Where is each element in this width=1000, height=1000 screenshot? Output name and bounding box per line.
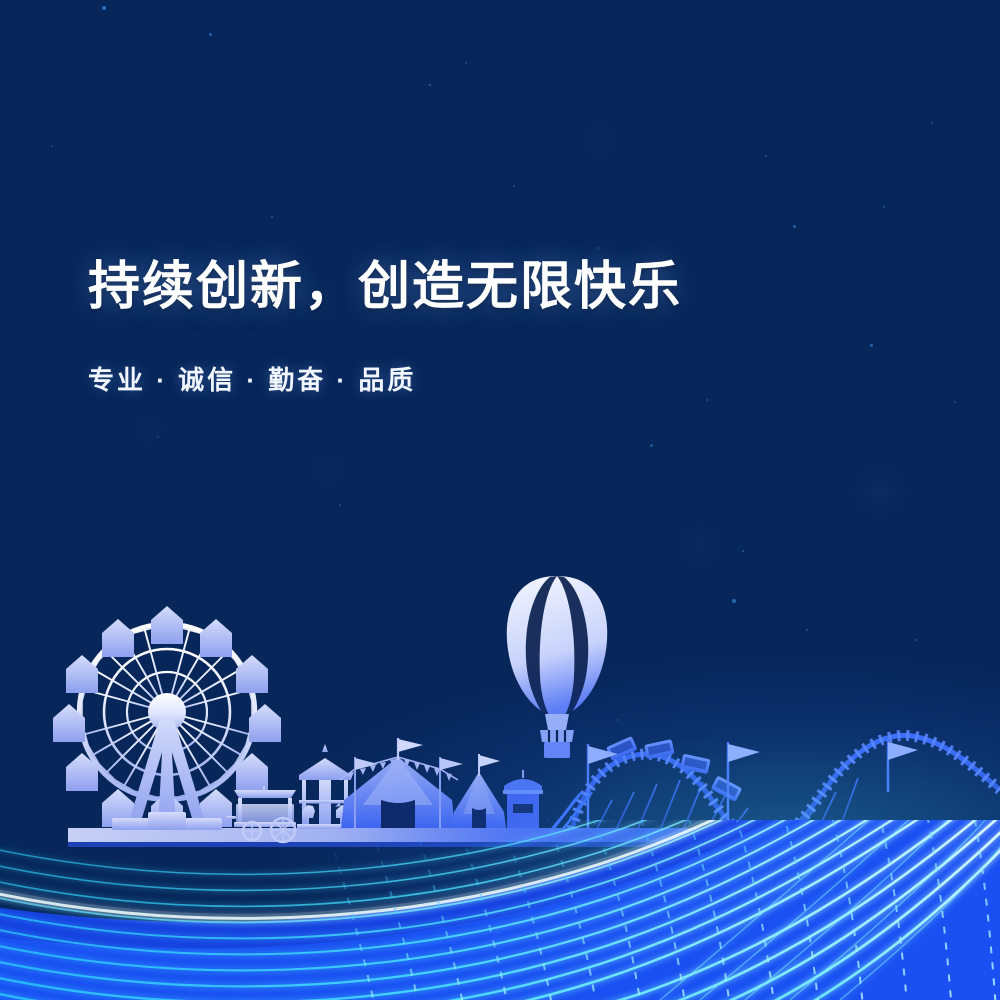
poster-canvas: 持续创新，创造无限快乐 专业 · 诚信 · 勤奋 · 品质 — [0, 0, 1000, 1000]
headline-block: 持续创新，创造无限快乐 专业 · 诚信 · 勤奋 · 品质 — [88, 258, 682, 397]
poster-headline: 持续创新，创造无限快乐 — [88, 258, 682, 316]
glowing-wave-mesh — [0, 0, 1000, 1000]
poster-subline: 专业 · 诚信 · 勤奋 · 品质 — [88, 360, 682, 397]
